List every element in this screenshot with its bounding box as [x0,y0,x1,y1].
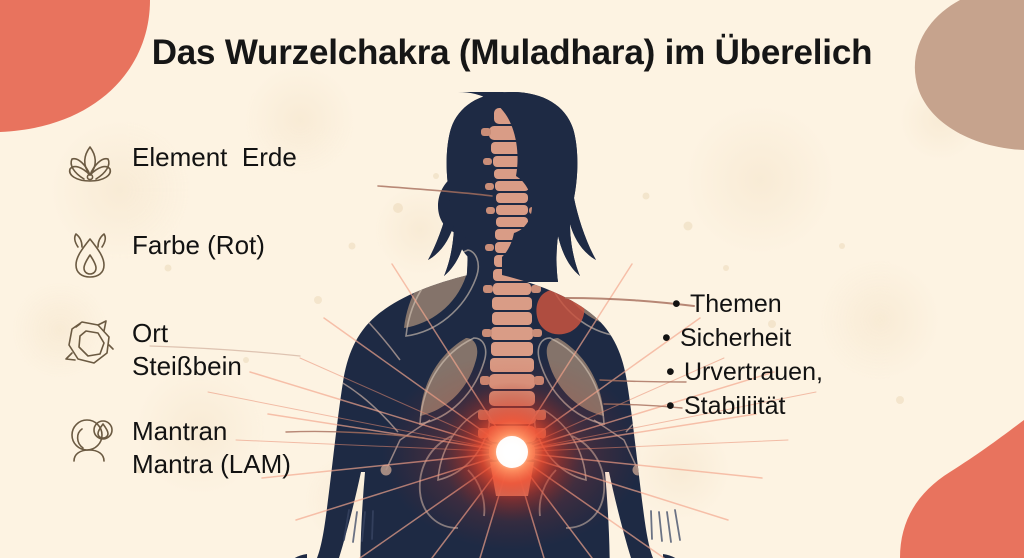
crystal-icon [62,313,118,369]
bullet-icon: • [666,389,684,423]
list-item[interactable]: • Urvertrauen, [666,355,823,389]
list-item-label: Stabiliität [684,389,785,423]
list-item-location[interactable]: Ort Steißbein [62,311,362,383]
list-item[interactable]: • Stabiliität [666,389,823,423]
list-item[interactable]: • Sicherheit [662,321,823,355]
flame-icon [62,225,118,281]
list-item-label: Ort Steißbein [132,311,242,383]
bullet-icon: • [672,287,690,321]
bullet-icon: • [662,321,680,355]
infographic-canvas: Das Wurzelchakra (Muladhara) im Überelic… [0,0,1024,558]
bullet-icon: • [666,355,684,389]
list-item-label: Urvertrauen, [684,355,823,389]
list-item-label: Themen [690,287,782,321]
lotus-icon [62,137,118,193]
list-item-color[interactable]: Farbe (Rot) [62,223,362,285]
meditation-head-icon [62,411,118,467]
attribute-list: Element Erde Farbe (Rot) [62,135,362,507]
list-item-label: Farbe (Rot) [132,223,265,262]
list-item-element[interactable]: Element Erde [62,135,362,197]
page-title: Das Wurzelchakra (Muladhara) im Überelic… [0,33,1024,73]
list-item-label: Sicherheit [680,321,791,355]
root-chakra-glow [382,354,642,550]
list-item-label: Mantran Mantra (LAM) [132,409,291,481]
list-item[interactable]: • Themen [672,287,823,321]
list-item-mantra[interactable]: Mantran Mantra (LAM) [62,409,362,481]
themes-list: • Themen • Sicherheit • Urvertrauen, • S… [660,287,823,423]
list-item-label: Element Erde [132,135,297,174]
